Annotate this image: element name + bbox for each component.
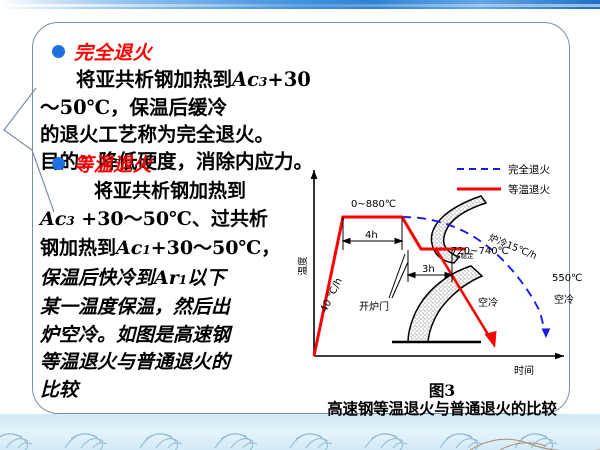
section-2-line-3: 钢加热到Ac1+30～50℃， [40, 236, 312, 264]
s2-l2-rest: +30～50℃、过共析 [75, 208, 268, 230]
peak-temperature-label: 0~880℃ [351, 199, 396, 210]
s2-l4-b: 以下 [187, 267, 225, 289]
top-accent-bar [0, 0, 600, 9]
blue-disc-bullet-icon [52, 157, 65, 170]
air-cool-red-label: 空冷 [478, 296, 498, 309]
wave-pattern-svg [0, 414, 600, 450]
section-2-line-8: 比较 [40, 378, 312, 404]
hold-time-iso-label: 3h [422, 264, 435, 275]
s2-l4-sub: 1 [179, 273, 187, 287]
figure-number: 图3 [296, 382, 588, 400]
chart-svg: 温度 时间 A稳定 [296, 158, 588, 380]
section-1-paragraph-line-1: 将亚共析钢加热到Ac3+30～50℃，保温后缓冷 [40, 67, 318, 120]
open-furnace-door-label: 开炉门 [359, 300, 389, 313]
complete-annealing-arrowhead [542, 328, 551, 338]
legend-label-complete-annealing: 完全退火 [508, 163, 550, 176]
section-2-heading-row: 等温退火 [40, 150, 312, 177]
section-1-title: 完全退火 [74, 38, 152, 65]
figure-caption-text: 高速钢等温退火与普通退火的比较 [296, 400, 588, 418]
s1-l1-ac: Ac [232, 68, 259, 91]
hold-time-top-label: 4h [365, 230, 378, 241]
s2-l3-sub: 1 [142, 243, 150, 257]
section-1-paragraph-line-2: 的退火工艺称为完全退火。 [40, 122, 318, 147]
bottom-wave-decoration [0, 414, 600, 450]
section-1-heading-row: 完全退火 [40, 38, 318, 65]
blue-disc-bullet-icon [52, 45, 65, 58]
chart-legend: 完全退火 等温退火 [457, 163, 550, 196]
section-2-line-7: 等温退火与普通退火的 [40, 350, 312, 376]
section-2-line-1: 将亚共析钢加热到 [40, 179, 312, 205]
section-2-line-4: 保温后快冷到Ar1以下 [40, 266, 312, 294]
blue-end-temperature-label: 550℃ [552, 273, 582, 284]
s2-l3-a: 钢加热到 [40, 237, 116, 259]
heating-rate-label: 40 ℃/h [319, 276, 345, 314]
x-axis-label: 时间 [514, 364, 534, 377]
legend-label-isothermal-annealing: 等温退火 [508, 183, 550, 196]
section-isothermal-annealing: 等温退火 将亚共析钢加热到 Ac3 +30～50℃、过共析 钢加热到Ac1+30… [40, 150, 312, 403]
section-2-line-5: 某一温度保温，然后出 [40, 295, 312, 321]
s2-l3-ac: Ac [116, 237, 142, 259]
section-2-line-2: Ac3 +30～50℃、过共析 [40, 207, 312, 235]
figure-caption: 图3 高速钢等温退火与普通退火的比较 [296, 382, 588, 418]
section-2-title: 等温退火 [74, 150, 152, 177]
s2-l4-ac: Ar [154, 267, 179, 289]
top-accent-sheen [0, 4, 600, 7]
s2-l3-b: +30～50℃， [151, 237, 281, 259]
s1-l1-text-a: 将亚共析钢加热到 [76, 68, 232, 91]
y-axis-label: 温度 [297, 256, 309, 276]
s2-l2-ac: Ac [40, 208, 66, 230]
section-2-line-6: 炉空冷。如图是高速钢 [40, 323, 312, 349]
s2-l4-a: 保温后快冷到 [40, 267, 154, 289]
s2-l2-sub: 3 [66, 214, 74, 228]
air-cool-blue-label: 空冷 [554, 293, 574, 306]
annealing-process-chart: 温度 时间 A稳定 [296, 158, 588, 380]
chart-axes [311, 170, 564, 359]
